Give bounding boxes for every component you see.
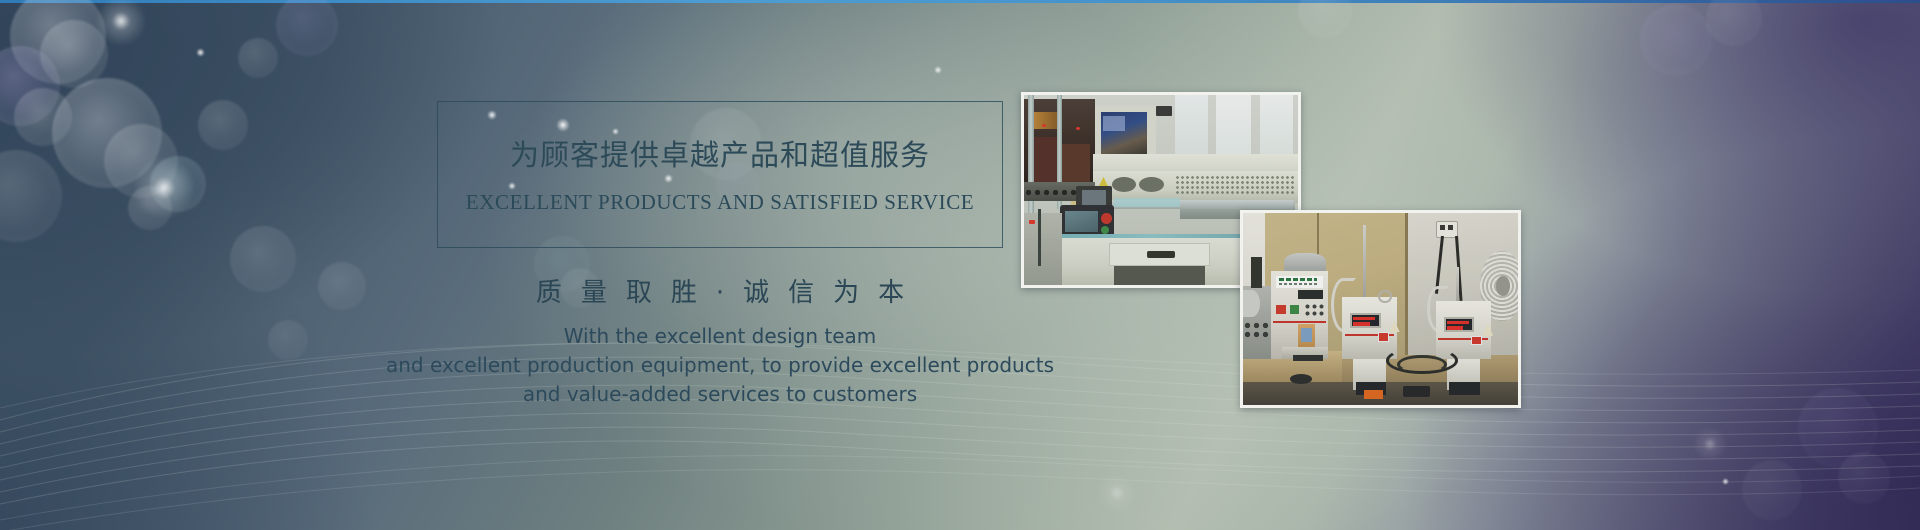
description-line-1: With the excellent design team [330, 322, 1110, 351]
light-flare [128, 152, 200, 224]
crimping-machines-photo [1240, 210, 1521, 408]
bokeh-circle [1706, 0, 1762, 46]
sparkle-dot [934, 66, 942, 74]
headline-english: EXCELLENT PRODUCTS AND SATISFIED SERVICE [437, 190, 1003, 215]
bokeh-circle [238, 38, 278, 78]
light-flare [92, 0, 150, 50]
bokeh-circle [1298, 0, 1352, 38]
bokeh-circle [276, 0, 338, 56]
bokeh-circle [1640, 4, 1712, 76]
photo-scene [1243, 213, 1518, 405]
description-line-2: and excellent production equipment, to p… [330, 351, 1110, 380]
description-line-3: and value-added services to customers [330, 380, 1110, 409]
bokeh-circle [198, 100, 248, 150]
slogan-chinese: 质量取胜·诚信为本 [437, 272, 1003, 309]
photo-color-tint [1243, 213, 1518, 405]
headline-frame [437, 101, 1003, 248]
sparkle-dot [196, 48, 205, 57]
description-paragraph: With the excellent design team and excel… [330, 322, 1110, 409]
headline-chinese: 为顾客提供卓越产品和超值服务 [437, 132, 1003, 174]
bokeh-circle [0, 150, 62, 242]
promo-banner: 为顾客提供卓越产品和超值服务 EXCELLENT PRODUCTS AND SA… [0, 0, 1920, 530]
